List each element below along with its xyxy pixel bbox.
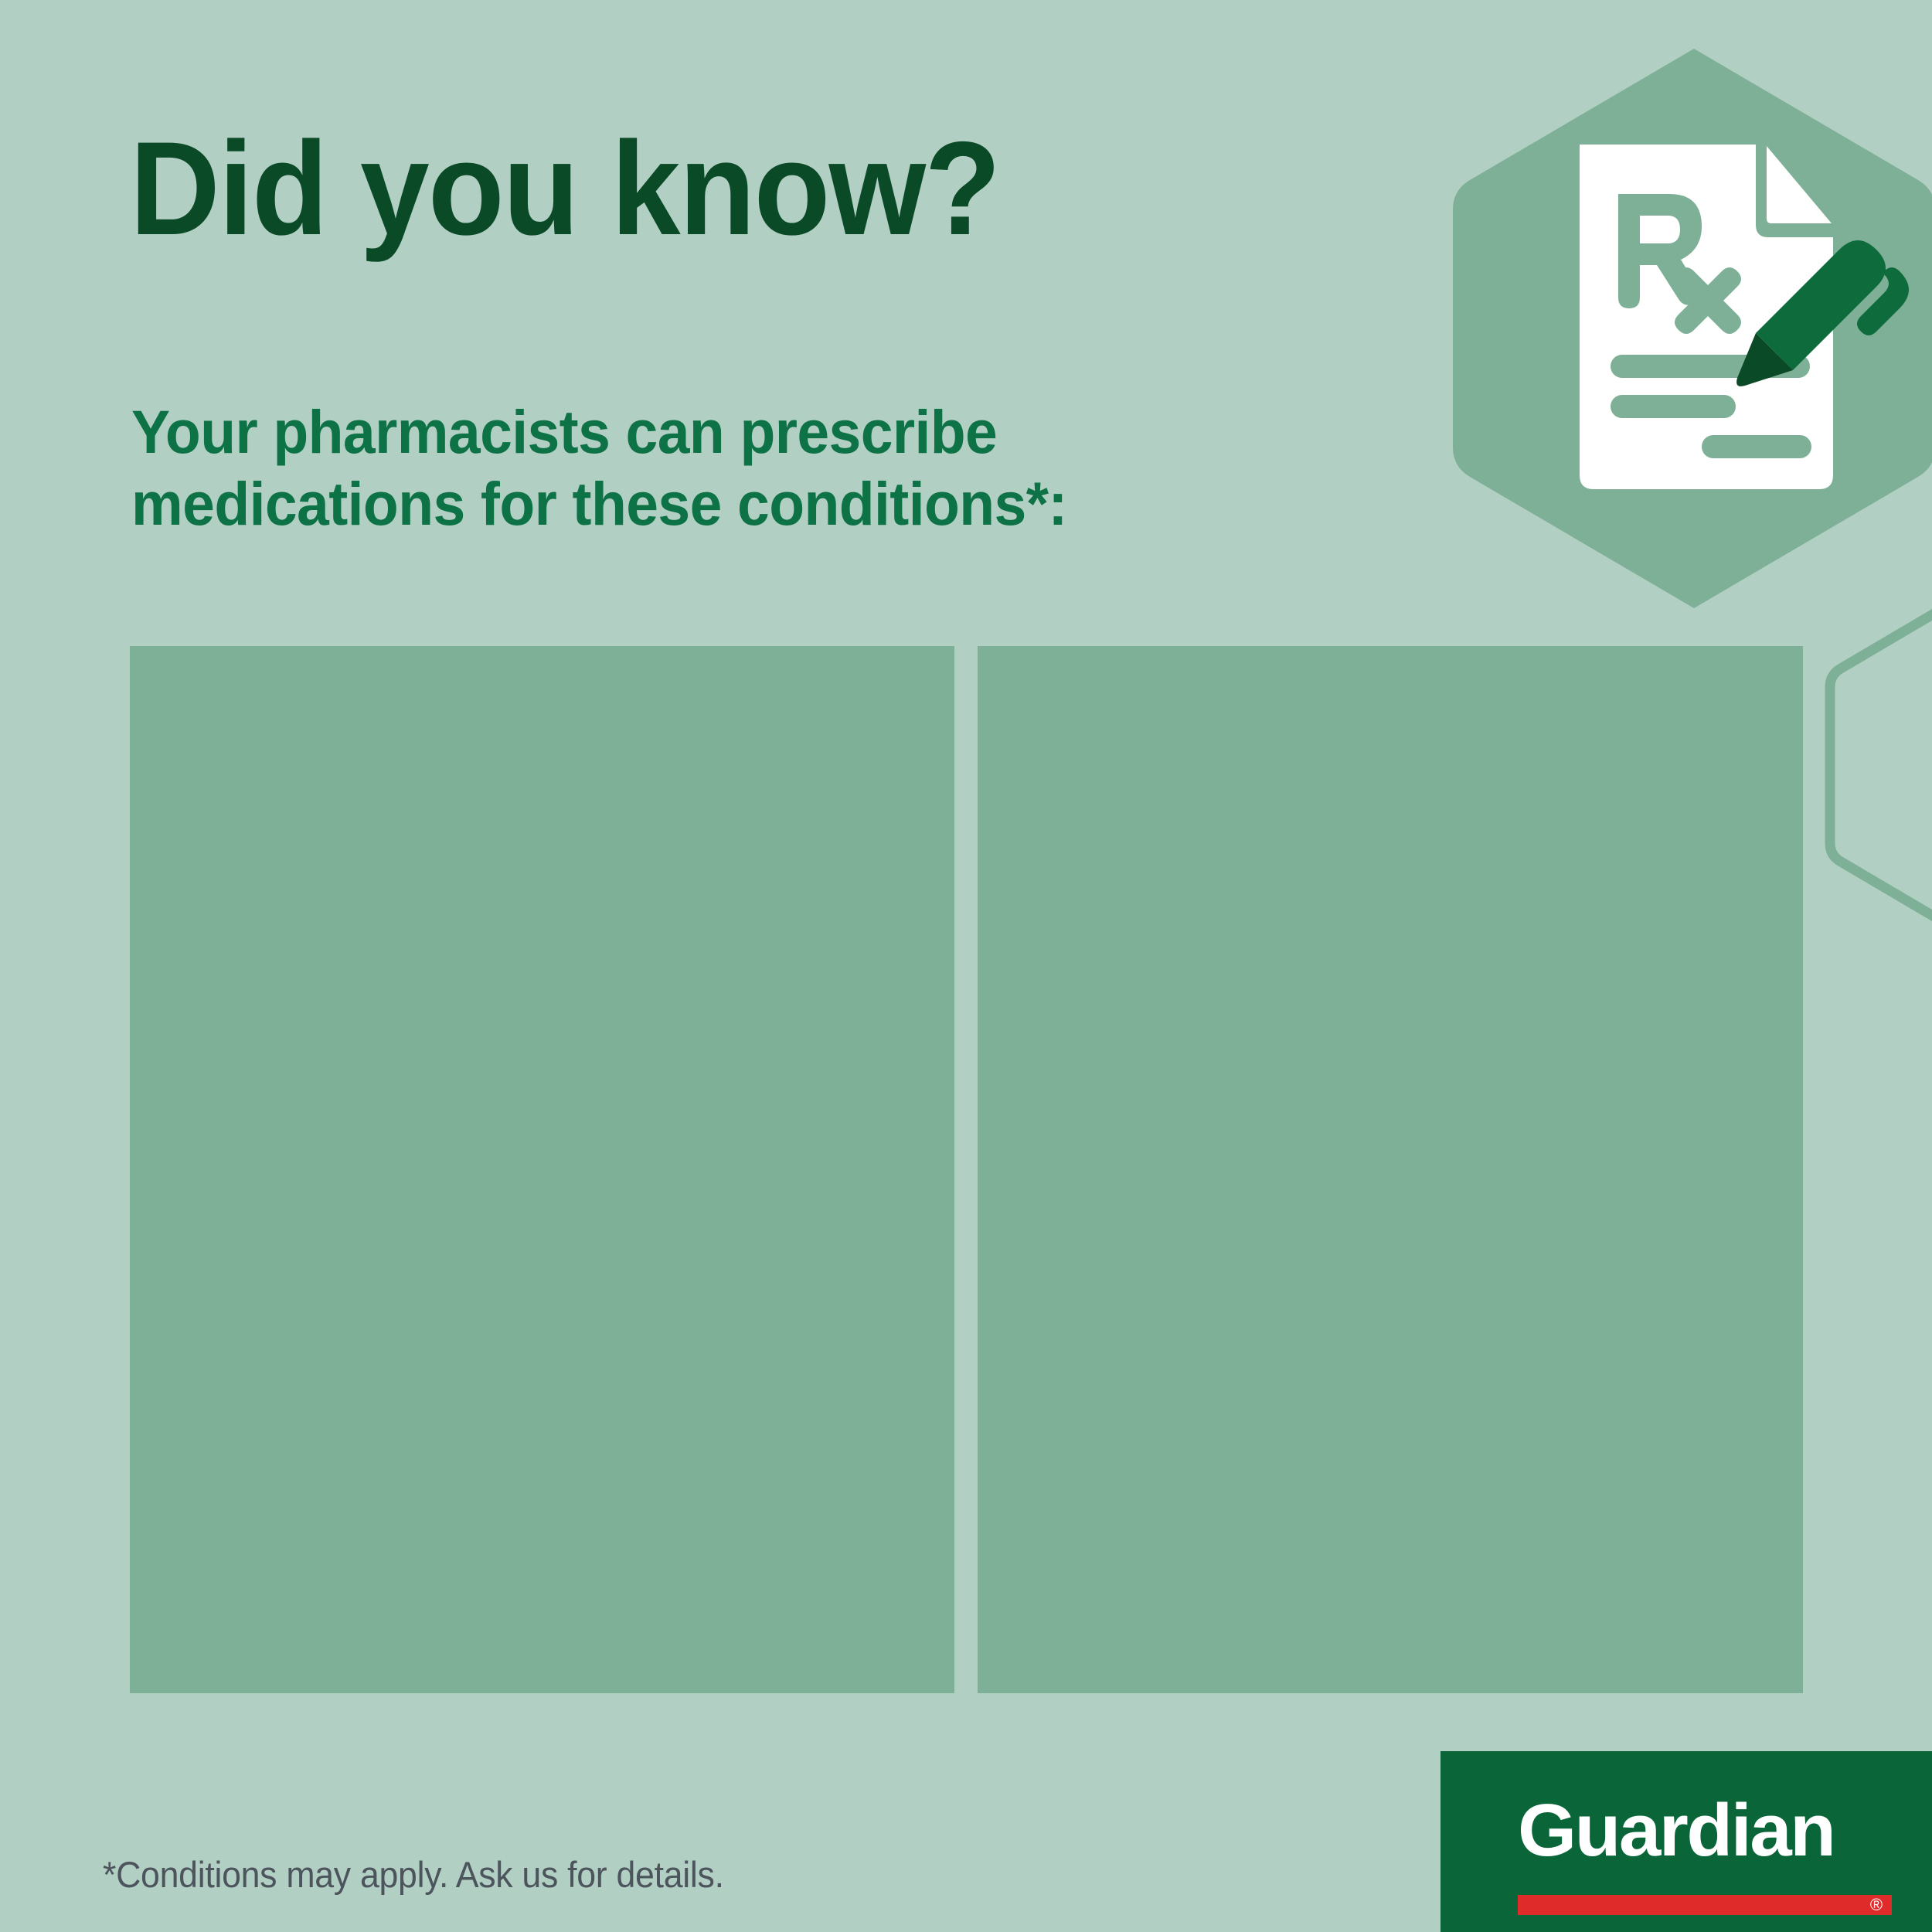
hexagon-outline-icon [1818, 576, 1932, 954]
conditions-panel-right [978, 646, 1803, 1693]
guardian-wordmark: Guardian [1518, 1794, 1834, 1868]
subheadline-line-1: Your pharmacists can prescribe [131, 396, 1067, 468]
hexagon-filled-icon [1447, 43, 1932, 614]
pencil-icon [1736, 240, 1909, 386]
conditions-panel-group [130, 646, 1803, 1693]
registered-trademark-icon: ® [1867, 1896, 1886, 1915]
subheadline: Your pharmacists can prescribe medicatio… [131, 396, 1067, 539]
guardian-red-rule [1518, 1895, 1892, 1915]
guardian-logo: Guardian ® [1440, 1751, 1932, 1932]
footnote-disclaimer: *Conditions may apply. Ask us for detail… [103, 1853, 724, 1896]
page-title: Did you know? [130, 122, 999, 255]
subheadline-line-2: medications for these conditions*: [131, 468, 1067, 539]
prescription-document-icon [1580, 145, 1833, 489]
poster-canvas: Did you know? Your pharmacists can presc… [0, 0, 1932, 1932]
conditions-panel-left [130, 646, 954, 1693]
